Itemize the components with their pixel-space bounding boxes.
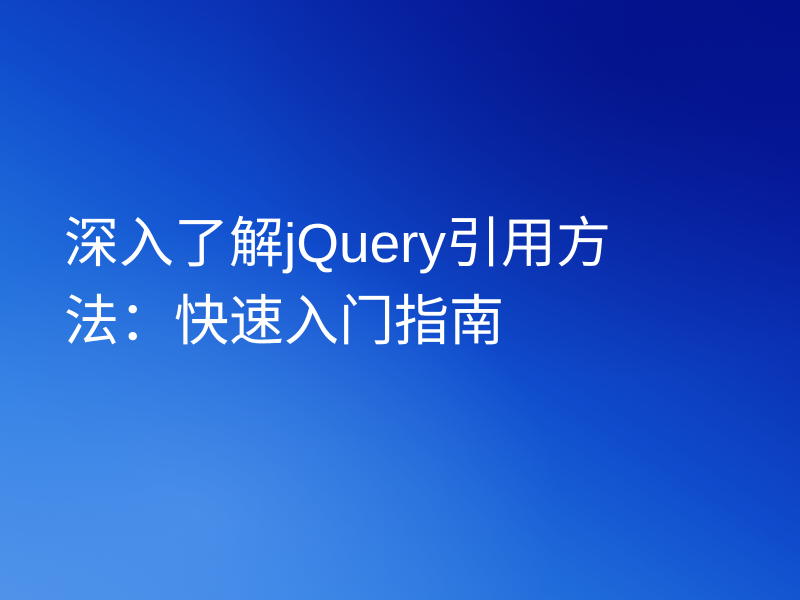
title-card: 深入了解jQuery引用方 法：快速入门指南 [0,0,800,600]
title-line-2: 法：快速入门指南 [64,282,744,360]
title-line-1: 深入了解jQuery引用方 [64,204,744,282]
page-title: 深入了解jQuery引用方 法：快速入门指南 [64,204,744,360]
